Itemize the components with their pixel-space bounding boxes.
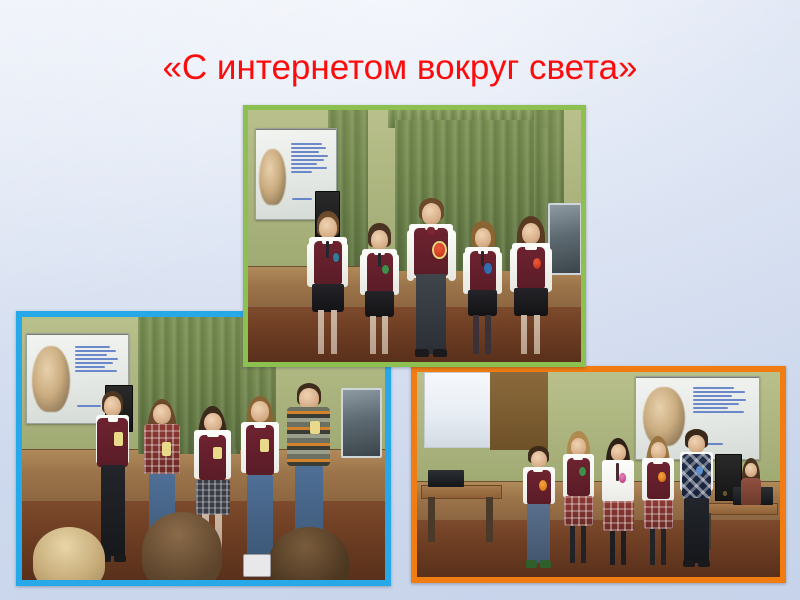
student-collar (653, 458, 663, 463)
student-shoe-right (433, 349, 447, 357)
student-2 (559, 431, 599, 566)
student-collar (207, 430, 219, 436)
audience-head-1 (33, 527, 106, 580)
student-head (153, 404, 170, 424)
student-arm-right (342, 243, 349, 287)
student-plaid-skirt (564, 496, 593, 526)
student-arm-left (307, 243, 314, 287)
student-head (422, 203, 442, 225)
photo-bottom-right-orange-frame[interactable] (411, 366, 786, 583)
student-vest (567, 458, 589, 496)
student-skirt (365, 291, 394, 316)
projection-screen-bar (635, 376, 760, 378)
student-leg-right (331, 310, 337, 354)
student-trousers (416, 274, 446, 353)
student-badge (658, 472, 665, 483)
student-leg-right (534, 315, 540, 355)
student-badge (114, 432, 124, 446)
student-head (571, 438, 586, 456)
student-cardigan (97, 418, 128, 467)
student-shoe-left (526, 560, 537, 567)
student-plaid-skirt (644, 500, 673, 529)
student-badge (484, 263, 491, 274)
student-head (688, 435, 705, 453)
student-shoe-left (683, 560, 695, 567)
student-tie (378, 253, 381, 268)
student-plaid-skirt (196, 480, 230, 515)
student-tie (481, 251, 484, 266)
projection-screen-text (75, 346, 122, 372)
student-plaid-skirt (603, 501, 633, 531)
photo-bottom-right-scene (417, 372, 780, 577)
student-leg-right (581, 526, 587, 563)
student-badge (213, 447, 222, 460)
student-head (475, 228, 491, 248)
student-trousers (684, 498, 708, 564)
projection-screen-bar (255, 128, 337, 130)
student-5-boy (675, 429, 719, 568)
seated-girl-head (745, 463, 757, 477)
student-4 (461, 221, 504, 357)
student-head (319, 217, 338, 239)
student-2 (358, 223, 401, 357)
projection-screen-text (291, 143, 331, 173)
student-badge (260, 439, 269, 453)
classroom-window (424, 372, 499, 448)
student-arm-right (496, 252, 502, 294)
student-4 (638, 436, 678, 569)
student-arm-right (393, 254, 399, 295)
student-3-boy (405, 198, 458, 357)
student-skirt (312, 284, 344, 312)
seated-girl-top (741, 478, 762, 505)
projection-screen-bar (26, 333, 130, 335)
student-argyle-sweater (682, 454, 712, 499)
student-head (104, 396, 121, 417)
student-trousers (101, 465, 125, 555)
student-striped-sweater (287, 407, 330, 466)
desk-leg-left (428, 497, 435, 542)
student-arm-left (407, 230, 414, 281)
student-leg-left (610, 531, 616, 565)
student-5 (508, 216, 555, 357)
student-leg-right (661, 529, 667, 565)
student-arm-left (463, 252, 469, 294)
student-1 (305, 211, 352, 357)
student-head (531, 451, 547, 468)
student-skirt (468, 290, 497, 316)
student-bowtie (427, 227, 435, 235)
student-leg-left (521, 315, 527, 355)
student-1-boy (519, 446, 559, 569)
student-head (371, 230, 387, 250)
student-head (251, 401, 268, 422)
seated-girl (736, 458, 765, 548)
window-curtain (490, 372, 548, 450)
student-collar (525, 243, 536, 250)
student-1-boy (91, 391, 135, 565)
student-vest (517, 247, 545, 289)
student-3 (599, 438, 639, 569)
student-leg-left (318, 310, 324, 354)
student-shoe-right (698, 560, 710, 567)
student-tie (326, 241, 329, 257)
student-badge (432, 241, 447, 259)
student-arm-right (545, 248, 552, 292)
student-shoe-right (540, 560, 551, 567)
slide-title: «С интернетом вокруг света» (0, 46, 800, 90)
student-skirt (514, 288, 548, 316)
student-shoe-left (415, 349, 429, 357)
laptop-left (428, 470, 464, 486)
student-badge (162, 442, 171, 455)
student-shoe-right (114, 554, 125, 563)
student-badge (333, 253, 340, 262)
presentation-slide: «С интернетом вокруг света» (0, 0, 800, 600)
student-leg-left (570, 526, 576, 563)
photo-top-scene (248, 110, 581, 362)
wall-monitor (341, 388, 381, 458)
student-head (611, 444, 626, 461)
student-collar (533, 467, 543, 472)
student-arm-right (448, 230, 455, 281)
pascal-portrait (32, 346, 71, 412)
student-head (204, 413, 221, 432)
student-leg-right (382, 316, 388, 355)
student-collar (108, 415, 119, 422)
student-head (299, 388, 319, 408)
student-leg-left (650, 529, 656, 565)
pascal-portrait (259, 149, 286, 205)
student-arm-left (510, 248, 517, 292)
student-collar (254, 422, 266, 429)
student-leg-left (370, 316, 376, 355)
student-head (522, 223, 540, 244)
student-badge (310, 421, 320, 434)
student-badge (382, 265, 389, 274)
student-jeans (247, 475, 273, 559)
student-jeans (527, 504, 549, 563)
student-leg-left (473, 315, 479, 354)
student-leg-right (621, 531, 627, 565)
student-arm-left (360, 254, 366, 295)
student-leg-right (485, 315, 491, 354)
student-collar (573, 454, 583, 459)
student-head (651, 442, 666, 459)
photo-top-green-frame[interactable] (243, 105, 586, 367)
desk-leg-right (486, 497, 493, 542)
student-badge (579, 467, 585, 476)
projection-screen-text (693, 387, 752, 413)
audience-phone (243, 554, 270, 577)
